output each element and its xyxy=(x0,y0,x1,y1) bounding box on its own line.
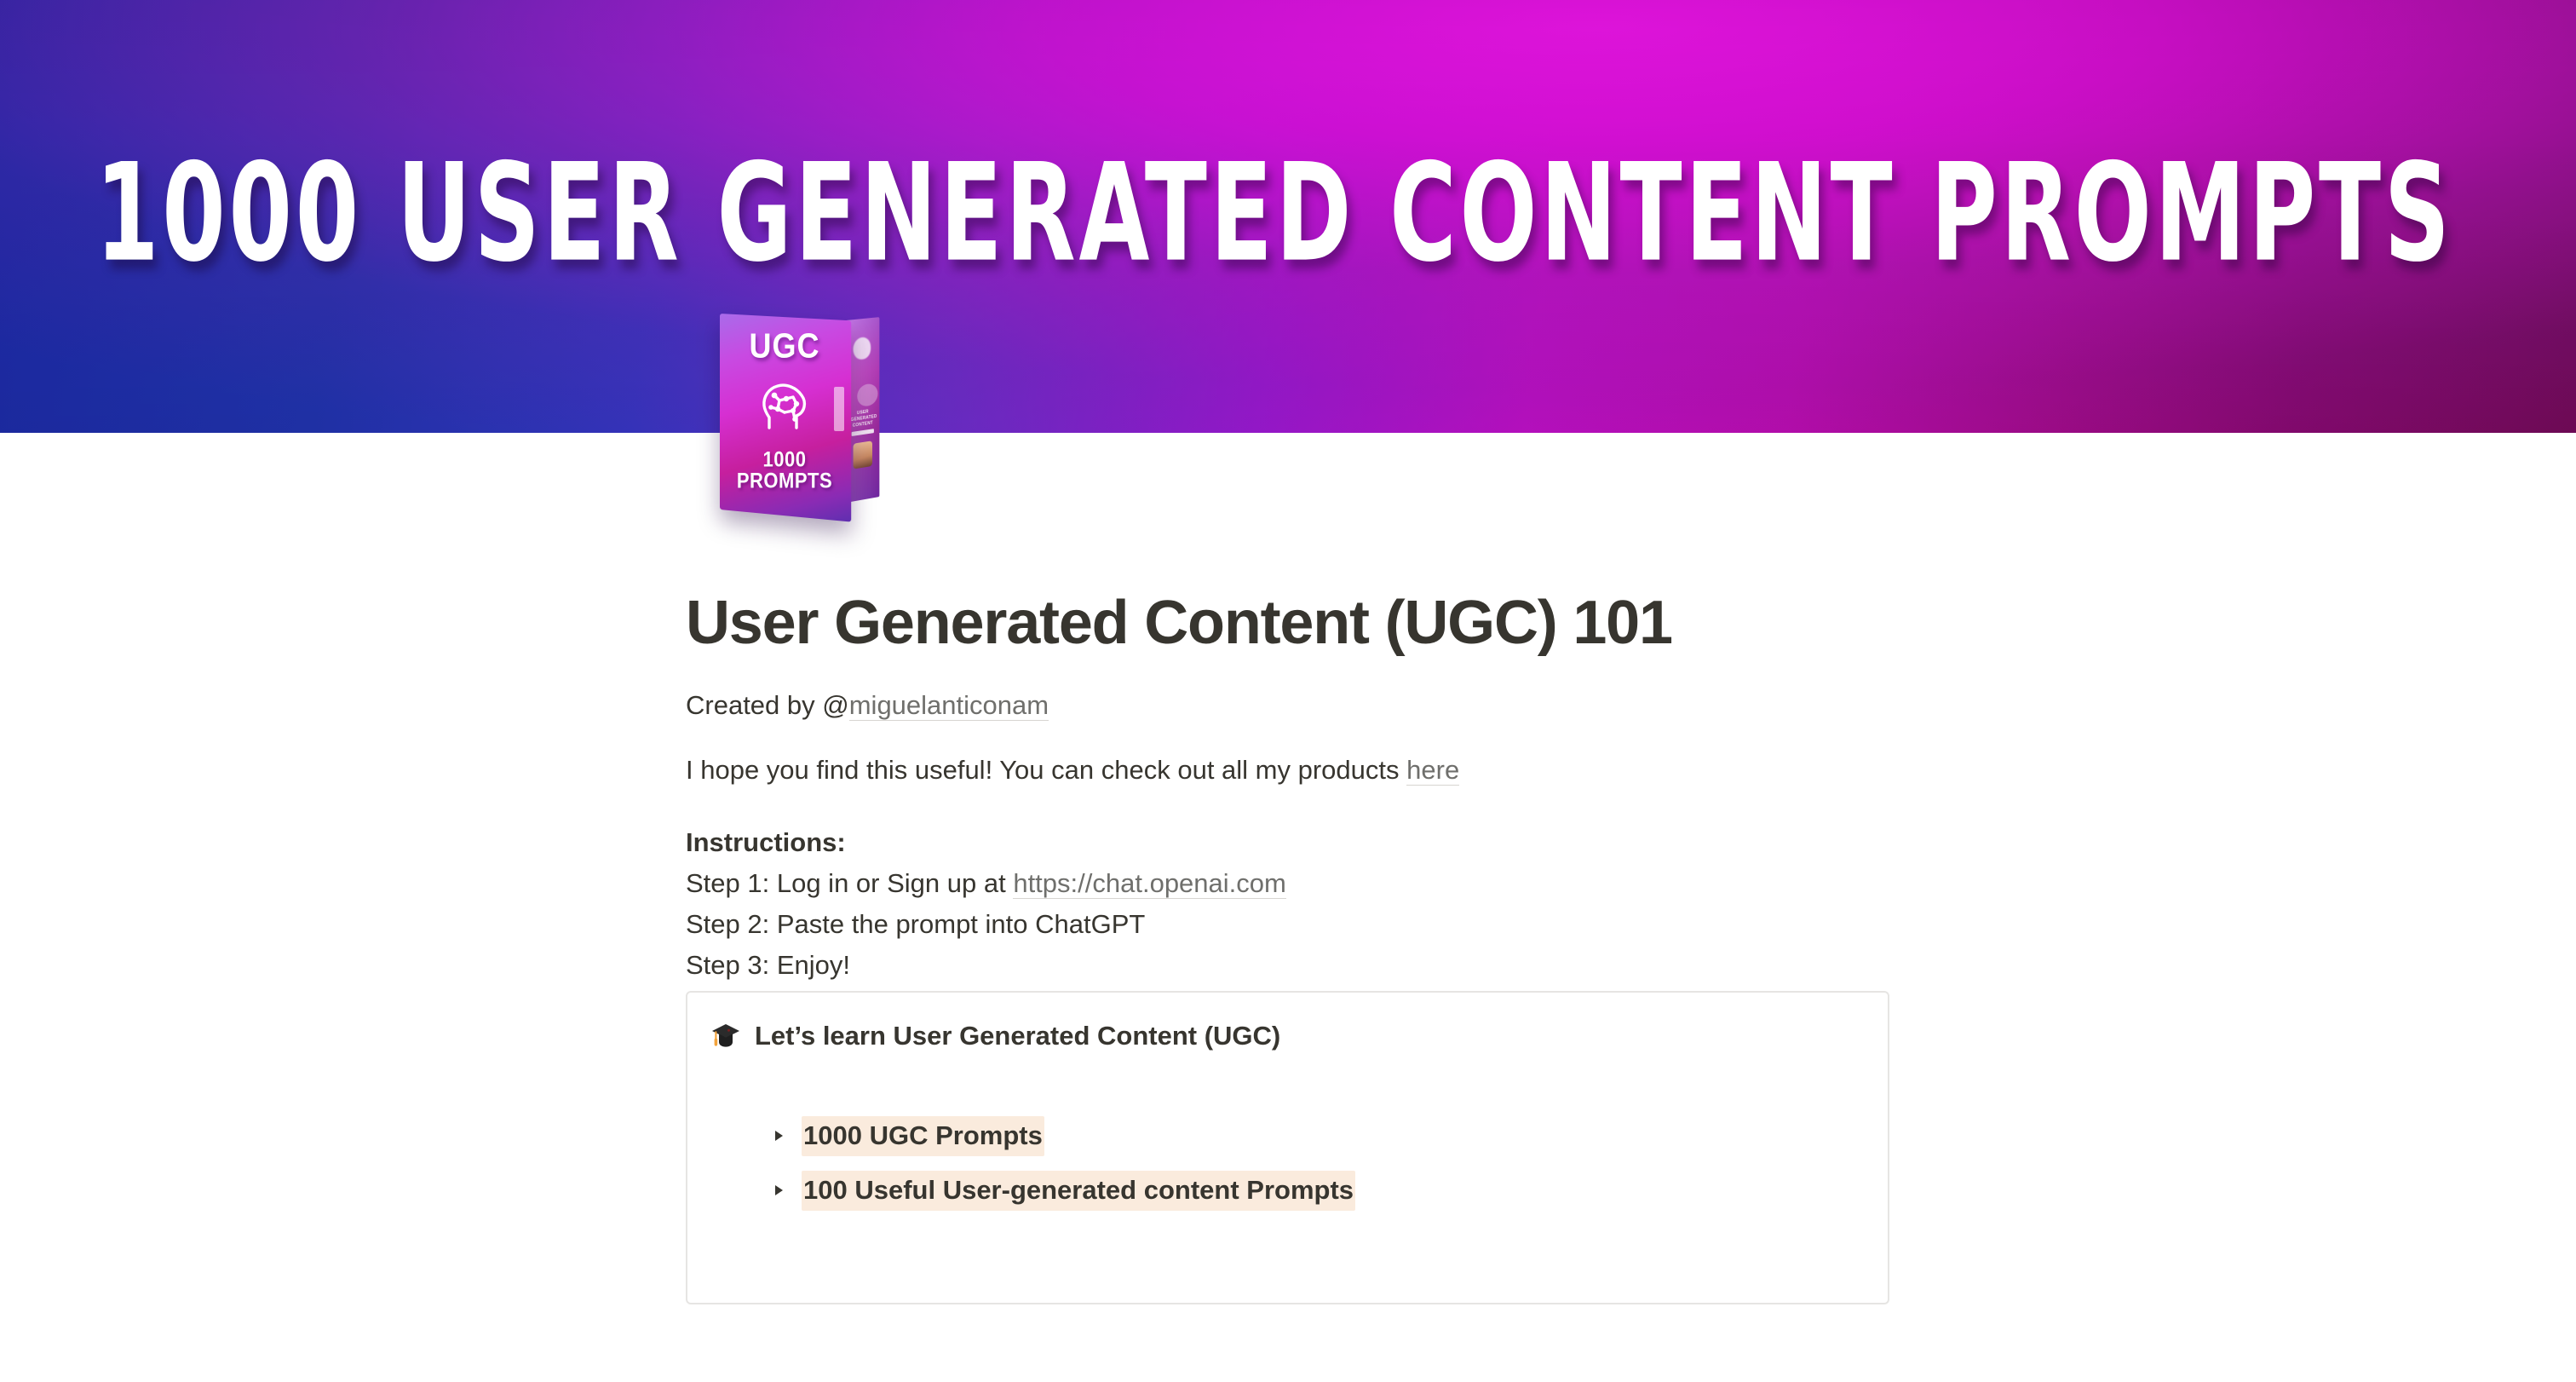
toggle-item[interactable]: 1000 UGC Prompts xyxy=(771,1112,1861,1160)
product-box-subtitle: 1000 PROMPTS xyxy=(720,449,849,492)
instructions-heading: Instructions: xyxy=(686,822,1895,863)
card-heading-label: Let’s learn User Generated Content (UGC) xyxy=(755,1021,1280,1051)
product-box-image: USER GENERATED CONTENT UGC xyxy=(720,308,911,513)
author-handle-link[interactable]: miguelanticonam xyxy=(849,690,1049,721)
product-box-title: UGC xyxy=(720,329,849,363)
graduation-cap-icon xyxy=(710,1022,741,1051)
step1-text: Step 1: Log in or Sign up at xyxy=(686,868,1013,898)
toggle-item-label[interactable]: 100 Useful User-generated content Prompt… xyxy=(802,1171,1355,1211)
created-by-line: Created by @miguelanticonam xyxy=(686,685,1895,726)
instruction-step-1: Step 1: Log in or Sign up at https://cha… xyxy=(686,863,1895,904)
intro-line: I hope you find this useful! You can che… xyxy=(686,750,1895,791)
brain-circuit-head-icon xyxy=(757,378,812,431)
page-content: User Generated Content (UGC) 101 Created… xyxy=(686,588,1895,986)
card-header: Let’s learn User Generated Content (UGC) xyxy=(710,1021,1280,1051)
notion-page: 1000 USER GENERATED CONTENT PROMPTS USER… xyxy=(0,0,2576,1382)
instruction-step-3: Step 3: Enjoy! xyxy=(686,945,1895,986)
triangle-right-icon[interactable] xyxy=(771,1128,802,1143)
product-box-spine-label: USER GENERATED CONTENT xyxy=(851,408,875,429)
products-here-link[interactable]: here xyxy=(1406,755,1459,786)
triangle-right-icon[interactable] xyxy=(771,1183,802,1198)
intro-text: I hope you find this useful! You can che… xyxy=(686,755,1406,785)
learn-section-card: Let’s learn User Generated Content (UGC)… xyxy=(686,991,1889,1304)
instruction-step-2: Step 2: Paste the prompt into ChatGPT xyxy=(686,904,1895,945)
toggle-item-label[interactable]: 1000 UGC Prompts xyxy=(802,1116,1044,1156)
created-by-prefix: Created by @ xyxy=(686,690,849,720)
toggle-item[interactable]: 100 Useful User-generated content Prompt… xyxy=(771,1166,1861,1214)
toggle-list: 1000 UGC Prompts 100 Useful User-generat… xyxy=(771,1112,1861,1221)
cover-banner-title: 1000 USER GENERATED CONTENT PROMPTS xyxy=(95,147,2314,282)
chatgpt-url-link[interactable]: https://chat.openai.com xyxy=(1013,868,1286,899)
page-cover-banner: 1000 USER GENERATED CONTENT PROMPTS xyxy=(0,0,2576,433)
product-box-front-notch xyxy=(834,387,844,431)
page-title: User Generated Content (UGC) 101 xyxy=(686,588,1895,658)
product-box-spine-avatar xyxy=(854,441,873,469)
